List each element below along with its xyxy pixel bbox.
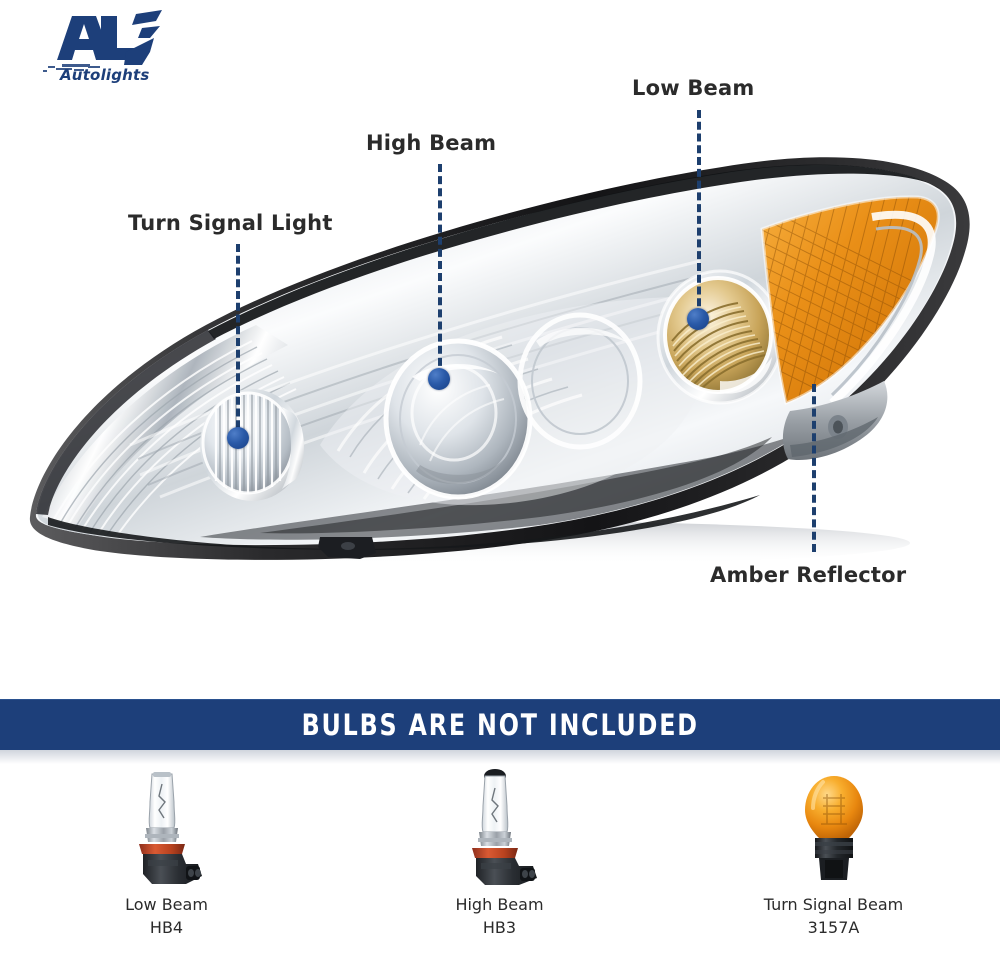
leader-line-high-beam bbox=[438, 164, 442, 378]
bulb-name: Low Beam bbox=[125, 895, 208, 914]
bulb-list: Low Beam HB4 bbox=[0, 768, 1000, 957]
bulb-item-high-beam: High Beam HB3 bbox=[333, 768, 666, 957]
marker-dot-high-beam bbox=[428, 368, 450, 390]
callout-label-low-beam: Low Beam bbox=[632, 76, 754, 100]
brand-name: Autolights bbox=[60, 66, 150, 84]
callout-label-high-beam: High Beam bbox=[366, 131, 496, 155]
leader-line-turn-signal bbox=[236, 244, 240, 440]
marker-dot-turn-signal bbox=[227, 427, 249, 449]
brand-logo: Autolights bbox=[38, 8, 178, 88]
callout-label-amber-reflector: Amber Reflector bbox=[710, 563, 906, 587]
leader-line-amber-reflector bbox=[812, 384, 816, 552]
bulb-code: HB4 bbox=[125, 917, 208, 940]
high-beam-reflector bbox=[386, 341, 530, 497]
marker-dot-low-beam bbox=[687, 308, 709, 330]
bulb-caption-turn-signal: Turn Signal Beam 3157A bbox=[764, 894, 903, 939]
bulb-name: Turn Signal Beam bbox=[764, 895, 903, 914]
bulb-caption-high-beam: High Beam HB3 bbox=[455, 894, 543, 939]
halogen-bulb-icon bbox=[112, 768, 222, 886]
bulb-code: HB3 bbox=[455, 917, 543, 940]
bulbs-not-included-banner: BULBS ARE NOT INCLUDED bbox=[0, 700, 1000, 750]
banner-text: BULBS ARE NOT INCLUDED bbox=[301, 708, 698, 742]
callout-label-turn-signal-light: Turn Signal Light bbox=[128, 211, 333, 235]
headlight-assembly-image bbox=[20, 145, 980, 565]
banner-shadow bbox=[0, 750, 1000, 764]
bulb-code: 3157A bbox=[764, 917, 903, 940]
bulb-name: High Beam bbox=[455, 895, 543, 914]
bulb-caption-low-beam: Low Beam HB4 bbox=[125, 894, 208, 939]
infographic-canvas: Autolights bbox=[0, 0, 1000, 957]
halogen-bulb-icon bbox=[445, 768, 555, 886]
low-beam-reflector bbox=[658, 271, 782, 403]
bulb-item-turn-signal: Turn Signal Beam 3157A bbox=[667, 768, 1000, 957]
leader-line-low-beam bbox=[697, 110, 701, 318]
turn-signal-reflector bbox=[200, 389, 304, 501]
amber-bulb-icon bbox=[779, 768, 889, 886]
bulb-item-low-beam: Low Beam HB4 bbox=[0, 768, 333, 957]
